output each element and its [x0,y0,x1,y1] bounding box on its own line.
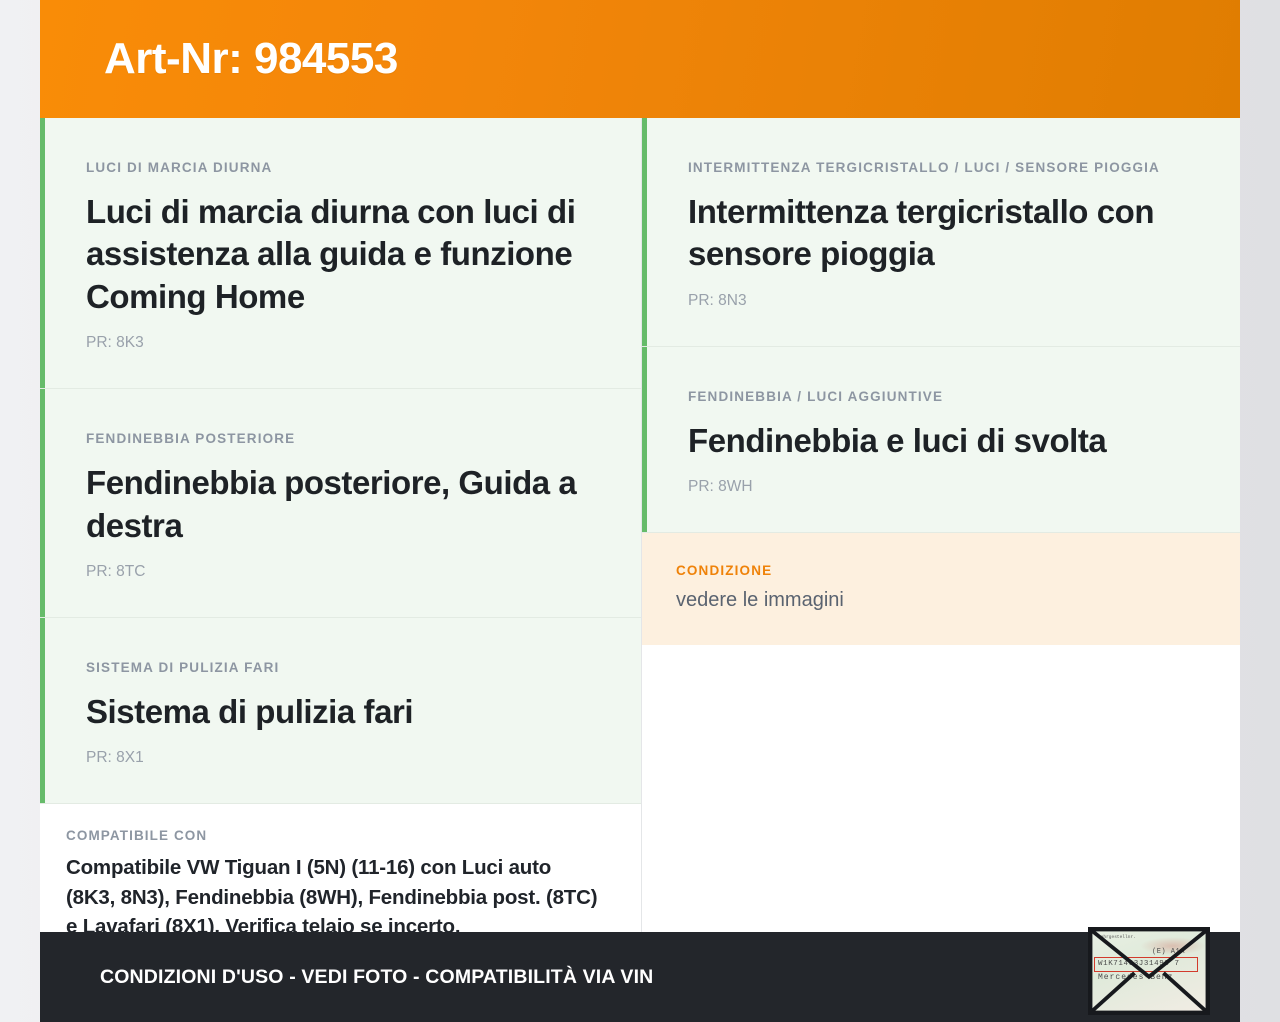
envelope-icon[interactable]: Fahrgestellnr. (E) A1A W1K71463J31493 7 … [1088,927,1210,1015]
left-column: LUCI DI MARCIA DIURNA Luci di marcia diu… [40,118,642,932]
feature-title: Fendinebbia e luci di svolta [688,420,1196,463]
feature-card: INTERMITTENZA TERGICRISTALLO / LUCI / SE… [642,118,1240,347]
right-column: INTERMITTENZA TERGICRISTALLO / LUCI / SE… [642,118,1240,932]
condition-card: CONDIZIONE vedere le immagini [642,533,1240,645]
header-bar: Art-Nr: 984553 [40,0,1240,118]
content-columns: LUCI DI MARCIA DIURNA Luci di marcia diu… [40,118,1240,932]
feature-pr-code: PR: 8WH [688,478,1196,496]
accent-bar-green [642,118,647,346]
compatibility-text: Compatibile VW Tiguan I (5N) (11-16) con… [66,853,601,940]
feature-title: Luci di marcia diurna con luci di assist… [86,191,597,319]
compatibility-label: COMPATIBILE CON [66,828,601,843]
feature-title: Fendinebbia posteriore, Guida a destra [86,462,597,547]
feature-label: SISTEMA DI PULIZIA FARI [86,658,597,678]
envelope-outline-icon [1090,929,1208,1013]
feature-title: Sistema di pulizia fari [86,691,597,734]
page-title: Art-Nr: 984553 [104,34,398,84]
feature-pr-code: PR: 8N3 [688,292,1196,310]
accent-bar-green [40,618,45,803]
feature-title: Intermittenza tergicristallo con sensore… [688,191,1196,276]
feature-card: FENDINEBBIA POSTERIORE Fendinebbia poste… [40,389,641,618]
feature-card: SISTEMA DI PULIZIA FARI Sistema di puliz… [40,618,641,804]
feature-card: LUCI DI MARCIA DIURNA Luci di marcia diu… [40,118,641,389]
condition-label: CONDIZIONE [676,563,1196,578]
feature-pr-code: PR: 8TC [86,563,597,581]
footer-bar: CONDIZIONI D'USO - VEDI FOTO - COMPATIBI… [40,932,1240,1022]
feature-label: FENDINEBBIA / LUCI AGGIUNTIVE [688,387,1196,407]
feature-label: FENDINEBBIA POSTERIORE [86,429,597,449]
feature-pr-code: PR: 8X1 [86,749,597,767]
footer-text: CONDIZIONI D'USO - VEDI FOTO - COMPATIBI… [100,966,653,989]
accent-bar-green [642,347,647,532]
feature-pr-code: PR: 8K3 [86,334,597,352]
accent-bar-green [40,118,45,388]
feature-label: INTERMITTENZA TERGICRISTALLO / LUCI / SE… [688,158,1196,178]
condition-value: vedere le immagini [676,587,1196,613]
feature-card: FENDINEBBIA / LUCI AGGIUNTIVE Fendinebbi… [642,347,1240,533]
accent-bar-green [40,389,45,617]
feature-label: LUCI DI MARCIA DIURNA [86,158,597,178]
product-info-page: Art-Nr: 984553 LUCI DI MARCIA DIURNA Luc… [0,0,1280,1022]
